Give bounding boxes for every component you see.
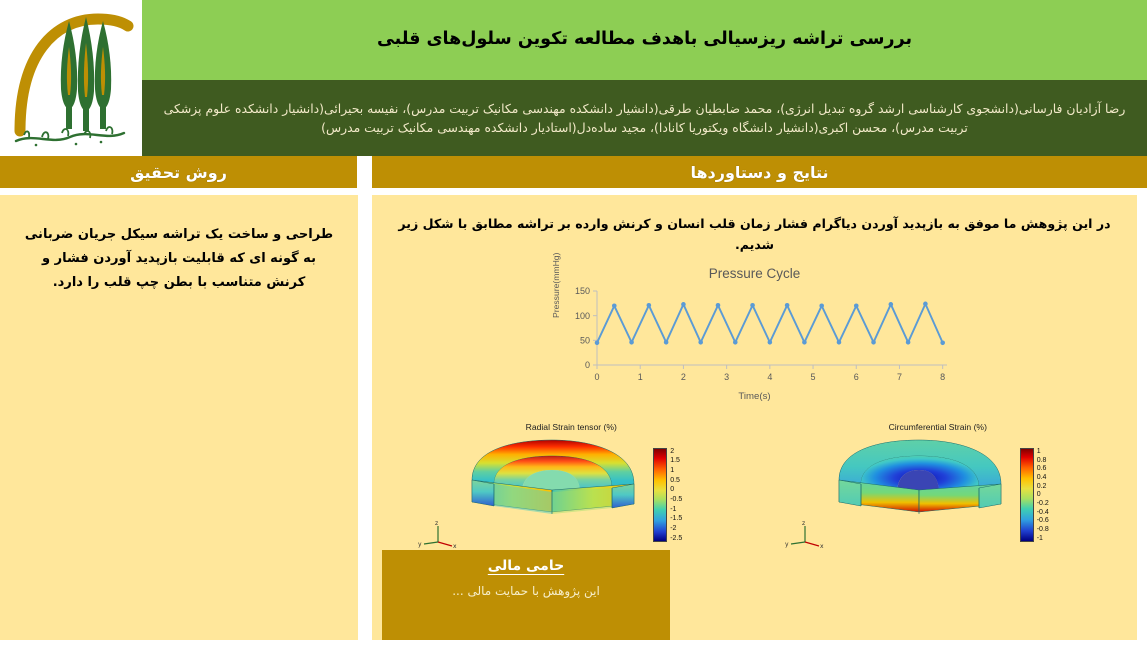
poster-header: بررسی تراشه ریزسیالی باهدف مطالعه تکوین … [0, 0, 1147, 156]
cbar-tick: 0 [670, 486, 682, 493]
cbar-tick: 0.5 [670, 477, 682, 484]
svg-text:4: 4 [767, 372, 772, 382]
svg-text:0: 0 [584, 360, 589, 370]
svg-text:6: 6 [853, 372, 858, 382]
svg-text:150: 150 [574, 286, 589, 296]
pressure-cycle-chart: Pressure Cycle Pressure(mmHg) 0501001500… [555, 266, 955, 416]
svg-text:y: y [785, 541, 789, 548]
svg-text:x: x [820, 543, 824, 550]
svg-text:0: 0 [594, 372, 599, 382]
fea-caption-circumferential: Circumferential Strain (%) [755, 422, 1122, 432]
svg-text:z: z [435, 520, 438, 527]
cbar-tick: 0.2 [1037, 483, 1049, 490]
content-columns: در این پژوهش ما موفق به بازپدید آوردن دی… [0, 188, 1147, 640]
svg-text:50: 50 [579, 335, 589, 345]
cbar-tick: -1 [670, 506, 682, 513]
fea-figure-radial: Radial Strain tensor (%) [388, 422, 755, 542]
method-panel: طراحی و ساخت یک تراشه سیکل جریان ضربانی … [0, 195, 358, 640]
cbar-tick: -0.8 [1037, 526, 1049, 533]
results-panel: در این پژوهش ما موفق به بازپدید آوردن دی… [372, 195, 1137, 640]
colorbar-strip-circumferential [1020, 448, 1034, 542]
title-band: بررسی تراشه ریزسیالی باهدف مطالعه تکوین … [142, 0, 1147, 80]
page-title: بررسی تراشه ریزسیالی باهدف مطالعه تکوین … [377, 28, 912, 52]
colorbar-ticks-radial: 2 1.5 1 0.5 0 -0.5 -1 -1.5 -2 -2.5 [670, 448, 682, 542]
sponsor-title: حامی مالی [394, 558, 658, 574]
cbar-tick: -1.5 [670, 515, 682, 522]
radial-strain-render [460, 436, 645, 528]
sponsor-text: این پژوهش با حمایت مالی ... [394, 584, 658, 598]
cbar-tick: 1 [1037, 448, 1049, 455]
section-bar-results: نتایج و دستاوردها [372, 156, 1147, 188]
cbar-tick: -0.2 [1037, 500, 1049, 507]
colorbar-strip-radial [653, 448, 667, 542]
section-bar-method: روش تحقیق [0, 156, 357, 188]
cbar-tick: -2 [670, 525, 682, 532]
colorbar-circumferential: 1 0.8 0.6 0.4 0.2 0 -0.2 -0.4 -0.6 -0.8 [1020, 448, 1049, 542]
fea-image-circumferential: z x y [827, 436, 1012, 532]
section-title-method: روش تحقیق [130, 163, 227, 182]
authors-list: رضا آزادیان فارسانی(دانشجوی کارشناسی ارش… [152, 99, 1137, 137]
chart-y-axis-label: Pressure(mmHg) [551, 252, 561, 317]
cbar-tick: 1.5 [670, 457, 682, 464]
svg-text:y: y [418, 541, 422, 548]
svg-text:z: z [802, 520, 805, 527]
results-intro-text: در این پژوهش ما موفق به بازپدید آوردن دی… [372, 195, 1137, 256]
chart-title: Pressure Cycle [555, 266, 955, 281]
poster-root: بررسی تراشه ریزسیالی باهدف مطالعه تکوین … [0, 0, 1147, 647]
axes-triad-icon-radial: z x y [418, 520, 460, 550]
cbar-tick: 0.4 [1037, 474, 1049, 481]
section-header-bars: نتایج و دستاوردها روش تحقیق [0, 156, 1147, 188]
bar-divider [357, 156, 372, 188]
cbar-tick: 0 [1037, 491, 1049, 498]
colorbar-ticks-circumferential: 1 0.8 0.6 0.4 0.2 0 -0.2 -0.4 -0.6 -0.8 [1037, 448, 1049, 542]
cbar-tick: 2 [670, 448, 682, 455]
fea-image-radial: z x y [460, 436, 645, 532]
svg-text:8: 8 [940, 372, 945, 382]
cbar-tick: -0.5 [670, 496, 682, 503]
circumferential-strain-render [827, 436, 1012, 528]
method-body-text: طراحی و ساخت یک تراشه سیکل جریان ضربانی … [0, 195, 358, 295]
header-text-block: بررسی تراشه ریزسیالی باهدف مطالعه تکوین … [142, 0, 1147, 156]
column-divider [358, 195, 372, 640]
cbar-tick: -2.5 [670, 535, 682, 542]
university-logo [0, 0, 142, 156]
authors-band: رضا آزادیان فارسانی(دانشجوی کارشناسی ارش… [142, 80, 1147, 156]
svg-text:1: 1 [637, 372, 642, 382]
colorbar-radial: 2 1.5 1 0.5 0 -0.5 -1 -1.5 -2 -2.5 [653, 448, 682, 542]
fea-figure-circumferential: Circumferential Strain (%) [755, 422, 1122, 542]
svg-text:3: 3 [724, 372, 729, 382]
cbar-tick: 0.6 [1037, 465, 1049, 472]
svg-text:2: 2 [680, 372, 685, 382]
svg-text:7: 7 [896, 372, 901, 382]
svg-text:x: x [453, 543, 457, 550]
cbar-tick: 1 [670, 467, 682, 474]
cbar-tick: 0.8 [1037, 457, 1049, 464]
axes-triad-icon-circumferential: z x y [785, 520, 827, 550]
svg-text:5: 5 [810, 372, 815, 382]
fea-figures-row: Radial Strain tensor (%) [372, 422, 1137, 542]
fea-caption-radial: Radial Strain tensor (%) [388, 422, 755, 432]
svg-text:100: 100 [574, 311, 589, 321]
cbar-tick: -0.6 [1037, 517, 1049, 524]
cbar-tick: -0.4 [1037, 509, 1049, 516]
tarbiat-modares-logo-icon [6, 3, 136, 153]
chart-plot-area: 050100150012345678 [555, 283, 955, 395]
cbar-tick: -1 [1037, 535, 1049, 542]
sponsor-box: حامی مالی این پژوهش با حمایت مالی ... [382, 550, 670, 640]
chart-x-axis-label: Time(s) [555, 391, 955, 402]
section-title-results: نتایج و دستاوردها [690, 163, 828, 182]
